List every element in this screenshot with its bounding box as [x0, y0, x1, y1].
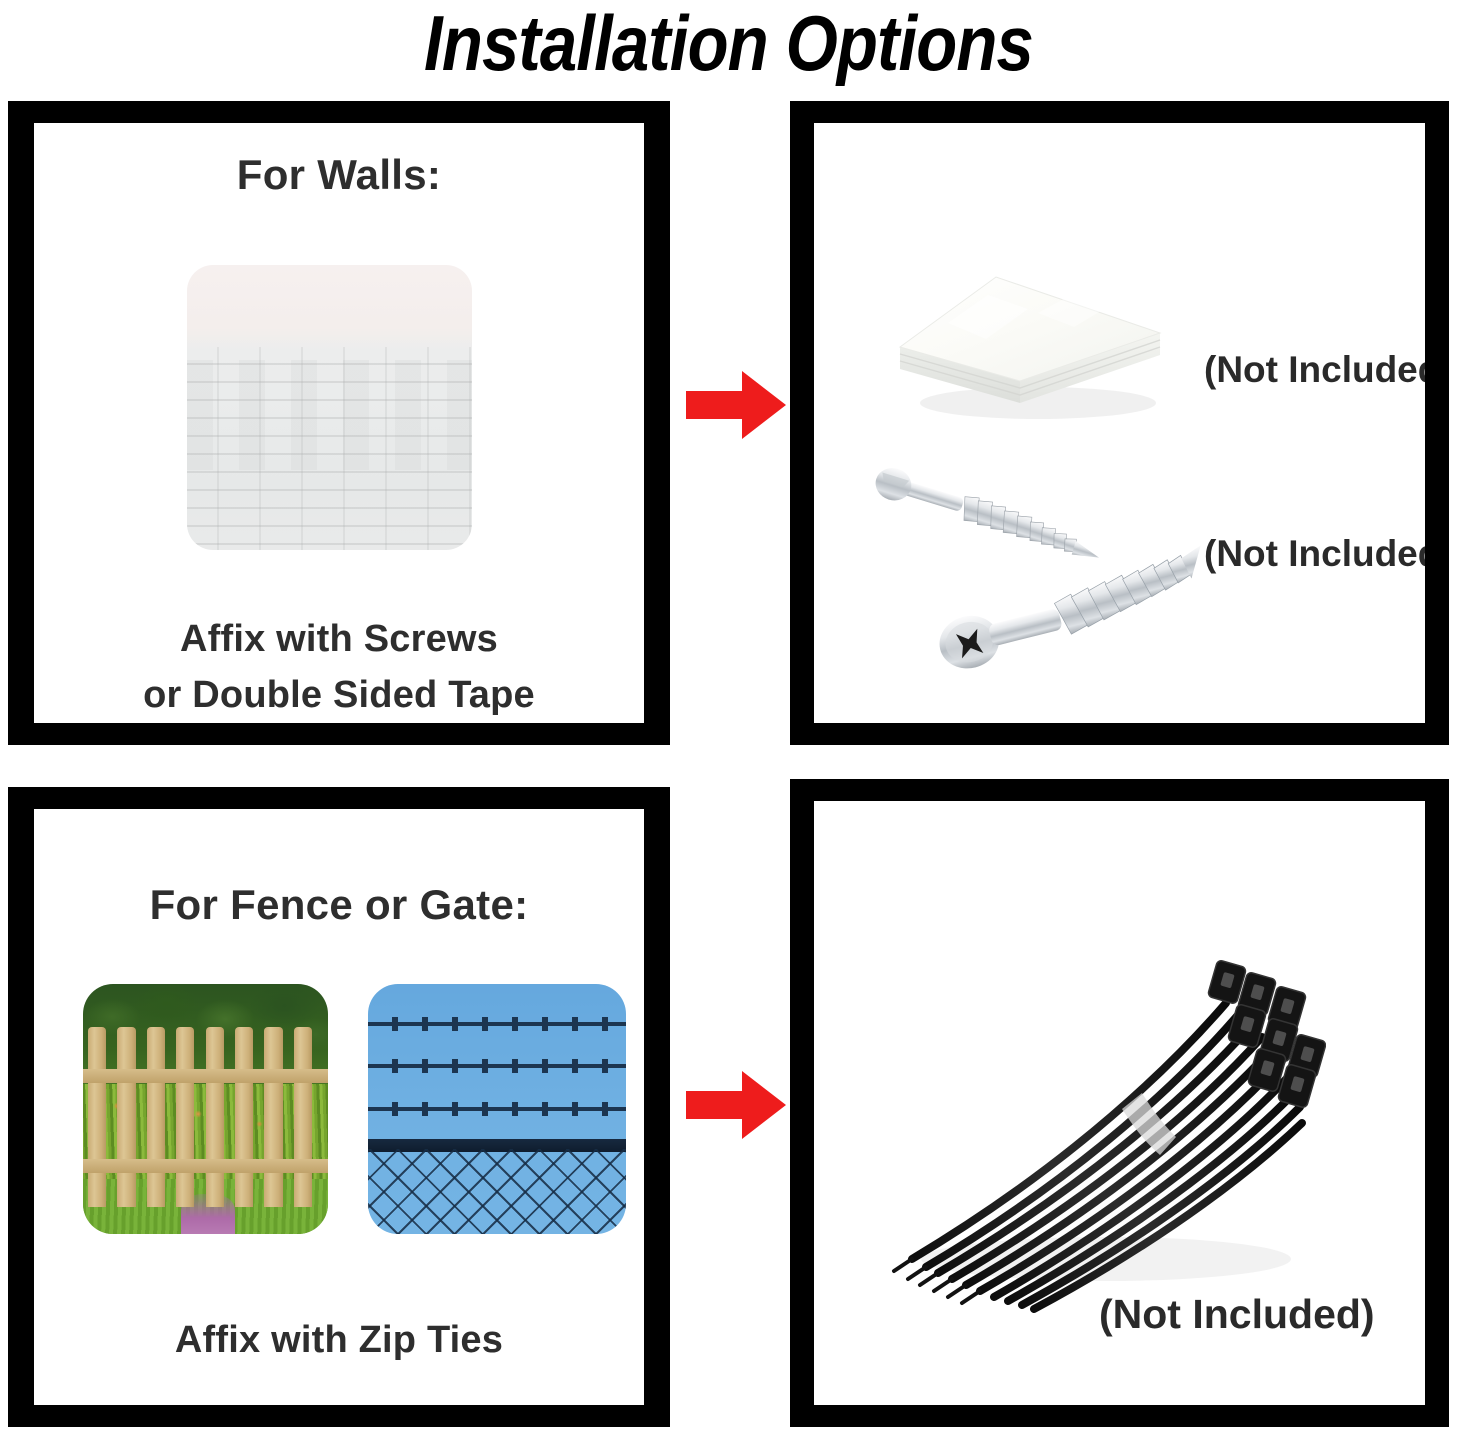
wood-screw-phillips-icon: [924, 543, 1214, 673]
panel-for-fence-or-gate: For Fence or Gate:: [8, 787, 670, 1427]
walls-heading: For Walls:: [34, 151, 644, 199]
walls-caption-line-2: or Double Sided Tape: [34, 674, 644, 717]
panel-for-walls: For Walls: Affix with Screws or Double S…: [8, 101, 670, 745]
black-zip-tie-bundle-icon: [876, 941, 1326, 1321]
panel-hardware-content: (Not Included): [814, 123, 1425, 723]
screw-not-included-label: (Not Included): [1204, 533, 1425, 575]
white-brick-wall-swatch-icon: [187, 265, 472, 550]
fence-caption: Affix with Zip Ties: [34, 1319, 644, 1362]
walls-caption-line-1: Affix with Screws: [34, 618, 644, 661]
page-title: Installation Options: [102, 0, 1355, 92]
panel-for-fence-content: For Fence or Gate:: [34, 809, 644, 1405]
ziptie-not-included-label: (Not Included): [1099, 1291, 1375, 1338]
red-right-arrow-icon: [686, 369, 786, 441]
panel-for-walls-content: For Walls: Affix with Screws or Double S…: [34, 123, 644, 723]
wooden-picket-fence-photo-icon: [83, 984, 328, 1234]
panel-hardware: (Not Included): [790, 101, 1449, 745]
red-right-arrow-icon: [686, 1069, 786, 1141]
panel-zip-ties-content: (Not Included): [814, 801, 1425, 1405]
double-sided-tape-stack-icon: [888, 251, 1188, 431]
fence-heading: For Fence or Gate:: [34, 881, 644, 929]
tape-not-included-label: (Not Included): [1204, 349, 1425, 391]
chain-link-barbed-wire-fence-photo-icon: [368, 984, 626, 1234]
panel-zip-ties: (Not Included): [790, 779, 1449, 1427]
